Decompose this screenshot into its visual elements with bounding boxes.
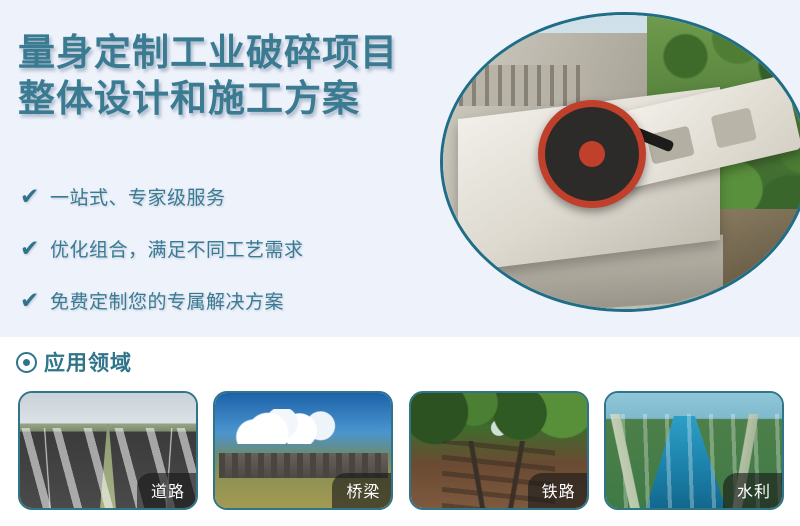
check-icon: ✔ [20,237,50,260]
applications-section: 应用领域 道路 桥梁 铁路 水利 [0,337,800,526]
crusher-machine-image [443,15,800,309]
application-card-label: 铁路 [528,473,587,508]
feature-item-label: 一站式、专家级服务 [50,183,226,210]
hero-copy: 量身定制工业破碎项目 整体设计和施工方案 [18,30,448,122]
page-title: 量身定制工业破碎项目 整体设计和施工方案 [18,30,448,122]
application-card-label: 道路 [137,473,196,508]
feature-item-label: 免费定制您的专属解决方案 [50,287,284,314]
application-card-list: 道路 桥梁 铁路 水利 [18,391,784,510]
check-icon: ✔ [20,185,50,208]
headline-line-1: 量身定制工业破碎项目 [18,30,448,76]
application-card-water[interactable]: 水利 [604,391,784,510]
feature-list: ✔ 一站式、专家级服务 ✔ 优化组合，满足不同工艺需求 ✔ 免费定制您的专属解决… [20,170,440,326]
scene-flywheel [538,100,646,208]
application-card-bridge[interactable]: 桥梁 [213,391,393,510]
applications-heading: 应用领域 [16,347,132,377]
headline-line-2: 整体设计和施工方案 [18,76,448,122]
feature-item: ✔ 免费定制您的专属解决方案 [20,274,440,326]
target-dot-icon [16,352,37,373]
applications-heading-label: 应用领域 [44,347,132,377]
feature-item-label: 优化组合，满足不同工艺需求 [50,235,304,262]
application-card-label: 桥梁 [332,473,391,508]
feature-item: ✔ 优化组合，满足不同工艺需求 [20,222,440,274]
feature-item: ✔ 一站式、专家级服务 [20,170,440,222]
check-icon: ✔ [20,289,50,312]
application-card-railway[interactable]: 铁路 [409,391,589,510]
promo-banner: 量身定制工业破碎项目 整体设计和施工方案 ✔ 一站式、专家级服务 ✔ 优化组合，… [0,0,800,526]
hero-photo [440,12,800,312]
hero-section: 量身定制工业破碎项目 整体设计和施工方案 ✔ 一站式、专家级服务 ✔ 优化组合，… [0,0,800,337]
application-card-label: 水利 [723,473,782,508]
application-card-road[interactable]: 道路 [18,391,198,510]
